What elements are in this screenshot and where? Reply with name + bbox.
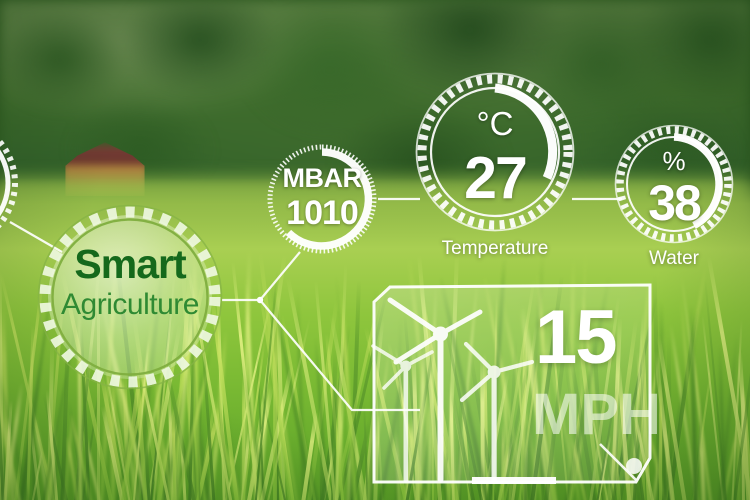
gauge-water[interactable]: % 38 Water bbox=[614, 124, 734, 244]
gauge-pressure-value: 1010 bbox=[266, 194, 378, 233]
wind-speed-panel[interactable]: 15 MPH bbox=[360, 278, 660, 490]
brand-badge[interactable]: Smart Agriculture bbox=[37, 204, 223, 390]
gauge-water-unit: % bbox=[614, 146, 734, 177]
gauge-offscreen-left[interactable] bbox=[0, 124, 20, 242]
brand-label-line1: Smart bbox=[37, 244, 223, 285]
gauge-water-caption: Water bbox=[614, 248, 734, 270]
brand-label: Smart Agriculture bbox=[37, 244, 223, 320]
smart-agriculture-hud-scene: Smart Agriculture MBAR 1010 °C 27 Temper… bbox=[0, 0, 750, 500]
gauge-water-value: 38 bbox=[614, 174, 734, 232]
gauge-pressure-unit: MBAR bbox=[266, 163, 378, 194]
wind-speed-value: 15 bbox=[535, 300, 655, 376]
connector-junction-dot bbox=[257, 297, 263, 303]
gauge-pressure[interactable]: MBAR 1010 bbox=[266, 143, 378, 255]
connector-node-pressure bbox=[260, 252, 300, 300]
wind-speed-unit: MPH bbox=[532, 386, 662, 444]
gauge-temperature-unit: °C bbox=[415, 105, 575, 143]
gauge-temperature[interactable]: °C 27 Temperature bbox=[415, 72, 575, 232]
gauge-temperature-value: 27 bbox=[415, 144, 575, 212]
gauge-temperature-caption: Temperature bbox=[415, 238, 575, 260]
brand-label-line2: Agriculture bbox=[37, 290, 223, 320]
